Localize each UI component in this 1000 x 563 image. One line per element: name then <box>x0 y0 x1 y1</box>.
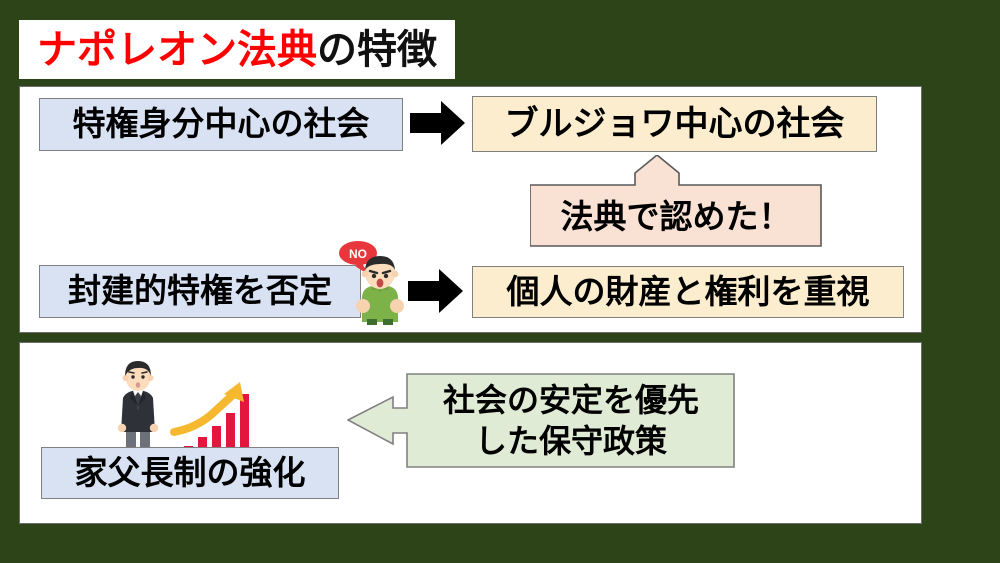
box-bourgeois-society: ブルジョワ中心の社会 <box>472 96 877 152</box>
callout-conservative-policy-line2: した保守政策 <box>475 421 667 462</box>
svg-text:NO: NO <box>349 247 367 261</box>
callout-conservative-policy: 社会の安定を優先 した保守政策 <box>347 373 735 468</box>
black-arrow-right-2-icon <box>408 268 464 319</box>
callout-conservative-policy-line1: 社会の安定を優先 <box>443 380 699 421</box>
box-individual-property-rights: 個人の財産と権利を重視 <box>472 266 904 318</box>
box-patriarchy-strengthened: 家父長制の強化 <box>41 447 339 499</box>
page-title: ナポレオン法典の特徴 <box>19 20 455 79</box>
black-arrow-right-1-icon <box>410 100 466 151</box>
page-title-text: ナポレオン法典の特徴 <box>37 30 437 70</box>
page-title-highlight: ナポレオン法典 <box>37 28 317 72</box>
slide-canvas: ナポレオン法典の特徴 特権身分中心の社会 ブルジョワ中心の社会 法典で認めた！ … <box>0 0 1000 563</box>
callout-code-approved-label: 法典で認めた！ <box>530 185 822 247</box>
callout-conservative-policy-label: 社会の安定を優先 した保守政策 <box>407 373 735 468</box>
box-privileged-society: 特権身分中心の社会 <box>39 98 403 151</box>
angry-person-no-illustration: NO <box>336 240 408 325</box>
page-title-rest: の特徴 <box>317 28 437 72</box>
callout-code-approved: 法典で認めた！ <box>530 155 822 247</box>
box-deny-feudal-privilege: 封建的特権を否定 <box>39 265 361 318</box>
